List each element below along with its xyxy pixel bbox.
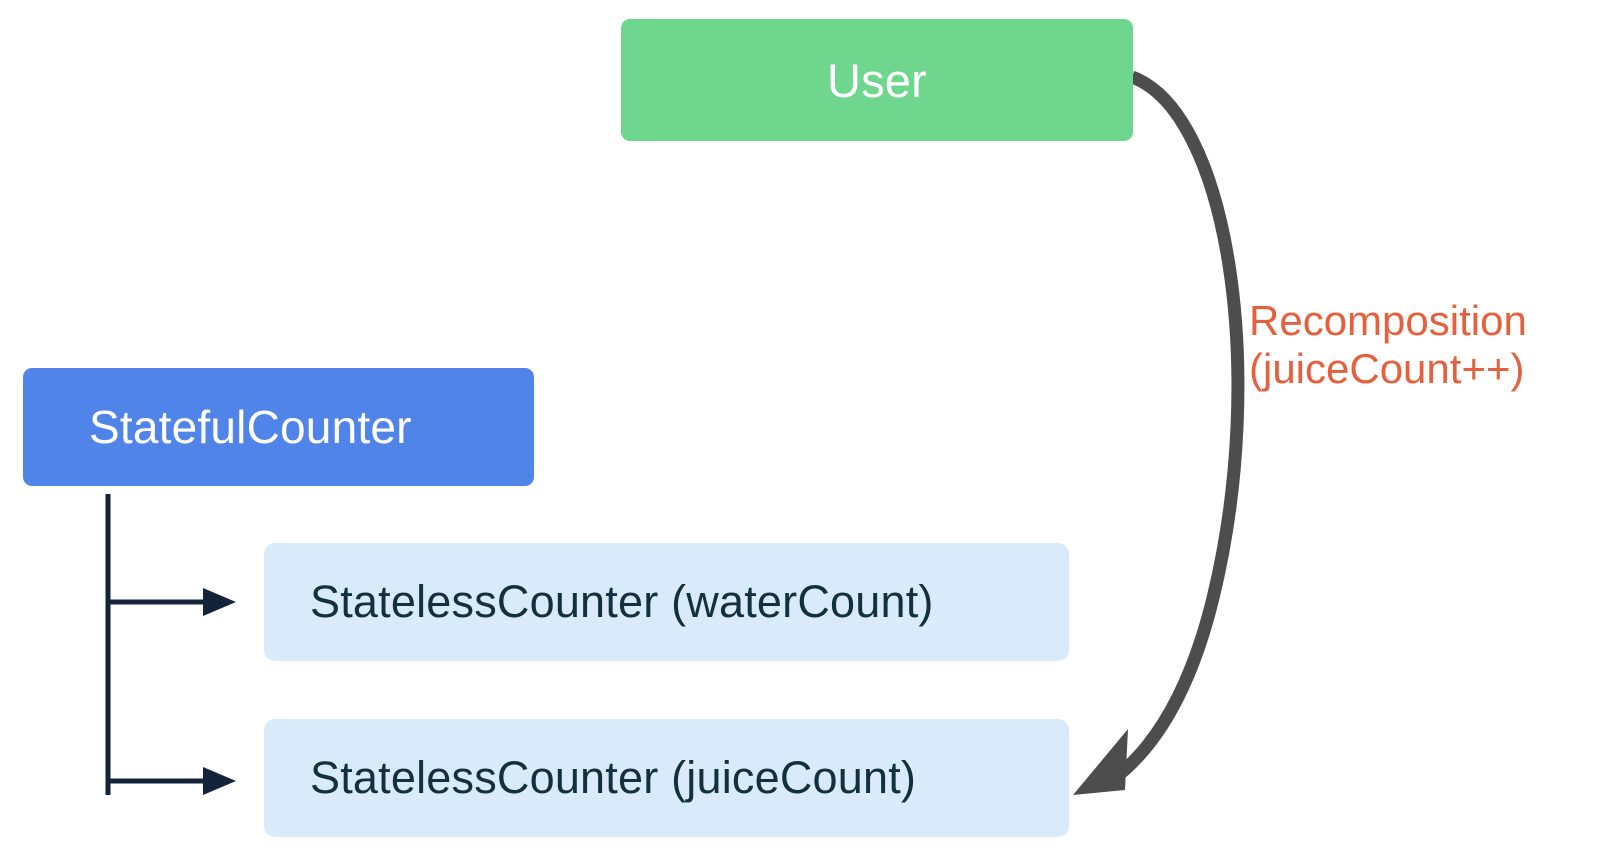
node-stateful-counter[interactable]: StatefulCounter (23, 368, 534, 486)
recomposition-annotation-line2: (juiceCount++) (1249, 345, 1589, 393)
diagram-canvas: User StatefulCounter StatelessCounter (w… (0, 0, 1600, 867)
node-stateless-counter-juice-label: StatelessCounter (juiceCount) (310, 752, 916, 804)
recomposition-annotation: Recomposition (juiceCount++) (1249, 297, 1589, 393)
node-user-label: User (827, 53, 927, 108)
node-stateless-counter-water[interactable]: StatelessCounter (waterCount) (264, 543, 1069, 661)
node-stateful-counter-label: StatefulCounter (89, 400, 412, 454)
tree-branch-juice-arrowhead (203, 767, 236, 795)
recomposition-curve-line (1112, 77, 1238, 780)
node-user[interactable]: User (621, 19, 1133, 141)
tree-branch-water-arrowhead (203, 588, 236, 616)
recomposition-annotation-line1: Recomposition (1249, 297, 1589, 345)
recomposition-arrowhead (1073, 729, 1128, 795)
node-stateless-counter-juice[interactable]: StatelessCounter (juiceCount) (264, 719, 1069, 837)
node-stateless-counter-water-label: StatelessCounter (waterCount) (310, 576, 934, 628)
